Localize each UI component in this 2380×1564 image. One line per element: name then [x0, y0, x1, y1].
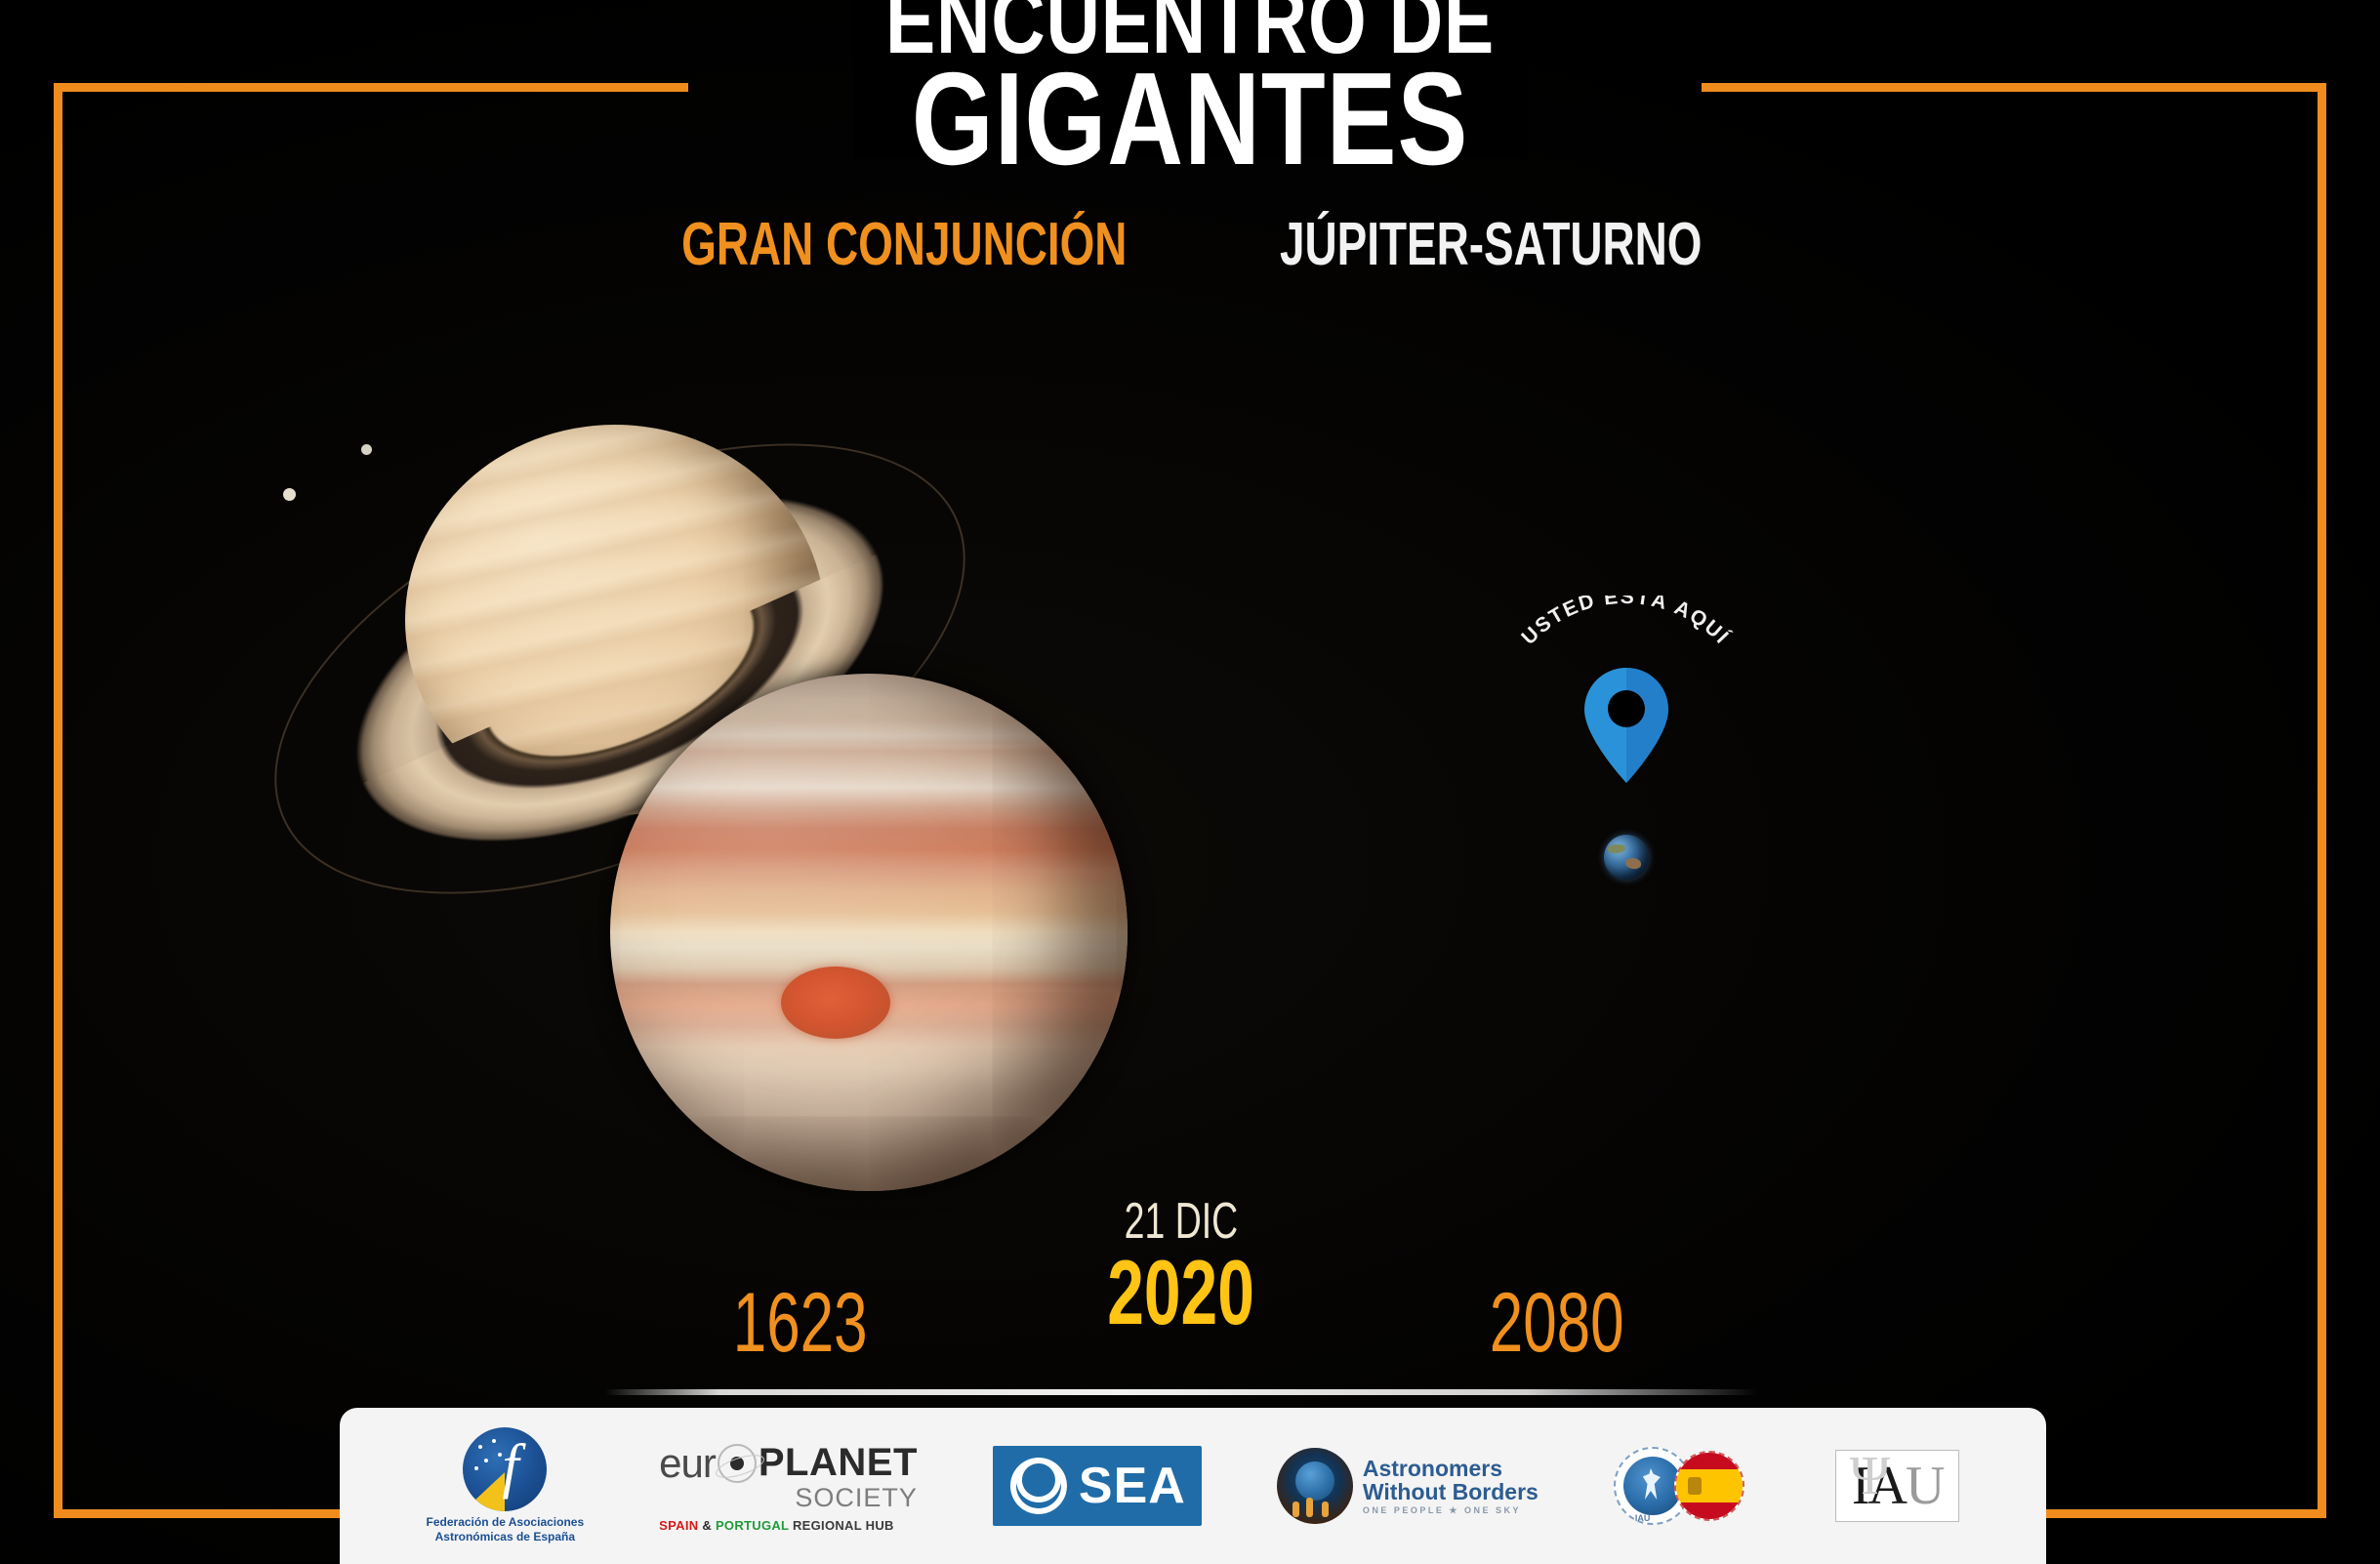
- hub-portugal: PORTUGAL: [716, 1518, 789, 1533]
- europlanet-orbit-icon: [718, 1444, 757, 1483]
- page-title-line2: GIGANTES: [238, 59, 2142, 180]
- sponsor-logo-bar: f Federación de Asociaciones Astronómica…: [340, 1408, 2046, 1564]
- timeline-year-future-value: 2080: [1490, 1284, 1624, 1364]
- timeline-year-present: 21 DIC 2020: [996, 1196, 1367, 1336]
- noc-label: IAU: [1635, 1513, 1651, 1523]
- subtitle-highlight: GRAN CONJUNCIÓN: [682, 210, 1128, 279]
- iau-letter-u: U: [1906, 1459, 1943, 1513]
- timeline-present-date-label: 21 DIC: [1125, 1196, 1239, 1247]
- earth-globe-icon: [1604, 835, 1649, 880]
- hub-amp: &: [698, 1518, 716, 1533]
- astronomers-without-borders-logo[interactable]: Astronomers Without Borders ONE PEOPLE ★…: [1277, 1448, 1539, 1524]
- awb-label-line2: Without Borders: [1363, 1480, 1539, 1503]
- svg-text:USTED ESTÁ AQUÍ: USTED ESTÁ AQUÍ: [1517, 596, 1734, 649]
- sea-logo[interactable]: SEA: [993, 1446, 1202, 1526]
- timeline-year-present-value: 2020: [1108, 1249, 1255, 1336]
- europlanet-eur-text: eur: [659, 1440, 716, 1487]
- sea-spiral-icon: [1008, 1456, 1069, 1516]
- timeline-bar: [605, 1389, 1757, 1395]
- timeline-year-future: 2080: [1396, 1284, 1718, 1364]
- sea-label: SEA: [1079, 1461, 1186, 1511]
- faae-label-line1: Federación de Asociaciones: [427, 1515, 585, 1530]
- iau-logo[interactable]: IAU: [1835, 1450, 1960, 1522]
- page-subtitle: GRAN CONJUNCIÓN JÚPITER-SATURNO: [0, 210, 2380, 279]
- jupiter-image: [610, 674, 1128, 1191]
- iau-letter-i: I: [1852, 1459, 1868, 1513]
- map-pin-icon: [1581, 666, 1671, 785]
- conjunction-timeline: 1623 21 DIC 2020 2080: [0, 1176, 2380, 1420]
- awb-label-line1: Astronomers: [1363, 1457, 1539, 1480]
- spain-flag-icon: [1674, 1451, 1744, 1521]
- you-are-here-marker: USTED ESTÁ AQUÍ: [1479, 596, 1772, 888]
- hub-rest: REGIONAL HUB: [789, 1518, 894, 1533]
- poster-title-block: ENCUENTRO DE GIGANTES: [0, 0, 2380, 181]
- great-red-spot: [781, 967, 890, 1039]
- europlanet-planet-text: PLANET: [759, 1441, 918, 1485]
- subtitle-rest: JÚPITER-SATURNO: [1280, 210, 1702, 279]
- faae-mark-icon: f: [463, 1427, 547, 1511]
- faae-logo[interactable]: f Federación de Asociaciones Astronómica…: [427, 1427, 585, 1544]
- faae-label-line2: Astronómicas de España: [427, 1530, 585, 1544]
- awb-tagline: ONE PEOPLE ★ ONE SKY: [1363, 1506, 1539, 1515]
- timeline-year-past: 1623: [644, 1284, 957, 1364]
- iau-noc-spain-logo[interactable]: IAU: [1614, 1445, 1760, 1527]
- europlanet-society-logo[interactable]: eur PLANET SOCIETY SPAIN & PORTUGAL REGI…: [659, 1440, 918, 1533]
- hub-spain: SPAIN: [659, 1518, 698, 1533]
- awb-mark-icon: [1277, 1448, 1353, 1524]
- europlanet-hub-text: SPAIN & PORTUGAL REGIONAL HUB: [659, 1518, 894, 1533]
- timeline-year-past-value: 1623: [733, 1284, 868, 1364]
- europlanet-society-text: SOCIETY: [795, 1483, 918, 1513]
